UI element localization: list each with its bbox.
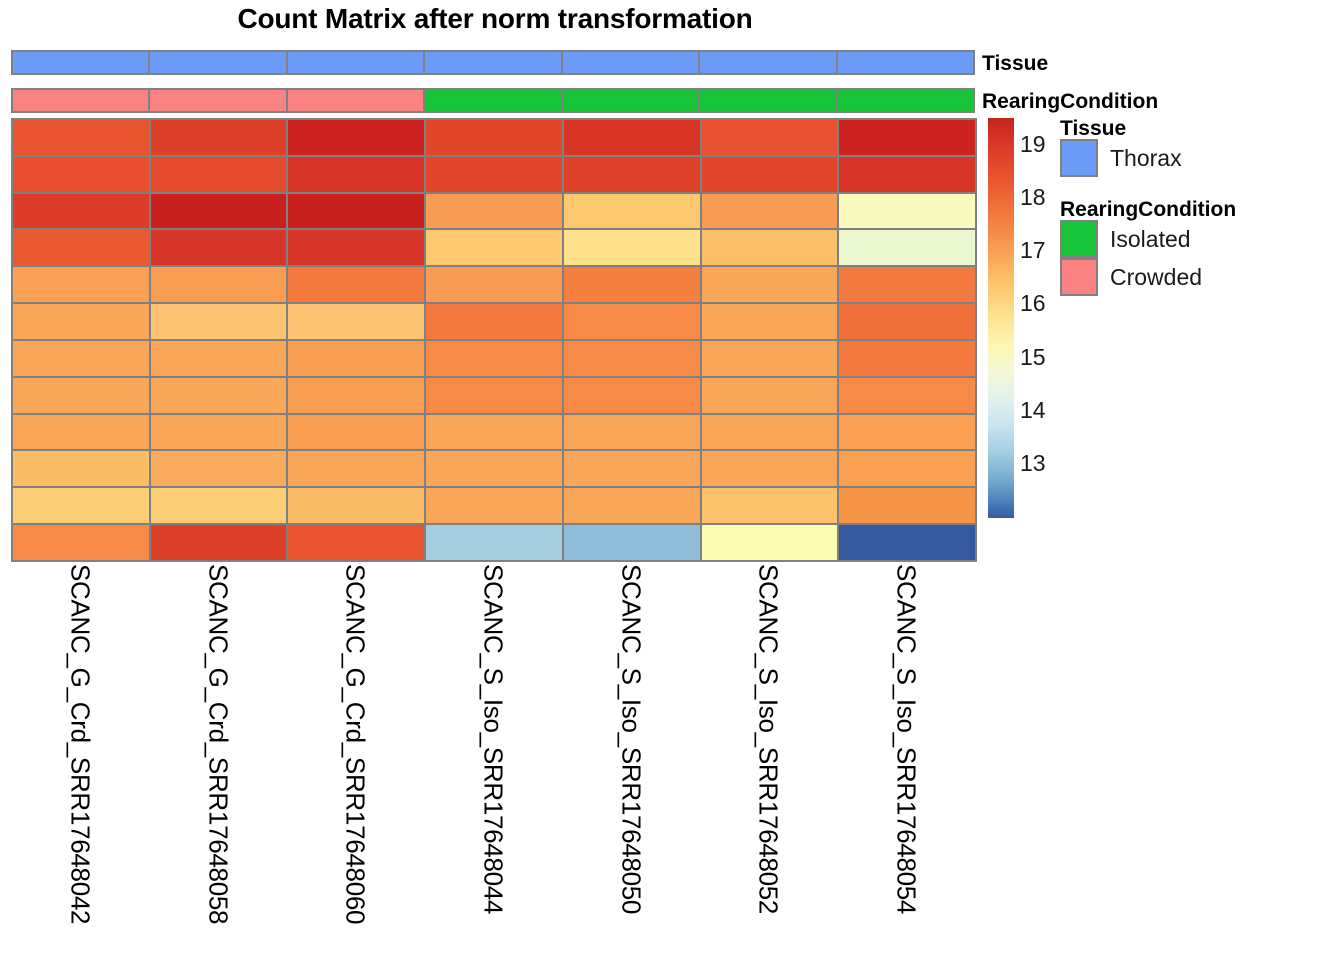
heatmap-cell [424,302,564,341]
colorbar-tick-label: 13 [1020,450,1046,477]
heatmap-cell [286,449,426,488]
heatmap-cell [837,339,977,378]
heatmap-cell [424,192,564,231]
heatmap-cell [11,486,151,525]
heatmap-cell [837,192,977,231]
page-title: Count Matrix after norm transformation [0,3,990,35]
heatmap-cell [837,155,977,194]
heatmap-cell [562,523,702,562]
column-label-slot: SCANC_S_Iso_SRR17648054 [837,562,975,958]
annotation-row-label-tissue: Tissue [982,52,1048,76]
colorbar-gradient [988,118,1014,518]
heatmap-cell [286,413,426,452]
heatmap-cell [837,413,977,452]
heatmap-cell [11,118,151,157]
heatmap-cell [562,376,702,415]
annotation-cell [11,88,150,113]
legend-entry[interactable]: Thorax [1060,139,1344,177]
column-label-slot: SCANC_S_Iso_SRR17648052 [700,562,838,958]
annotation-bar-rearingcondition [11,88,975,113]
heatmap-cell [424,265,564,304]
heatmap-cell [286,523,426,562]
heatmap-cell [286,376,426,415]
heatmap-cell [149,449,289,488]
heatmap-cell [149,339,289,378]
annotation-cell [286,50,425,75]
colorbar-tick-label: 15 [1020,344,1046,371]
annotation-row-label-rearingcondition: RearingCondition [982,90,1158,114]
annotation-cell [423,50,562,75]
annotation-cell [148,50,287,75]
heatmap-cell [700,192,840,231]
heatmap-cell [837,118,977,157]
heatmap-cell [11,449,151,488]
annotation-cell [423,88,562,113]
heatmap-cell [11,376,151,415]
annotation-cell [698,88,837,113]
heatmap-cell [11,228,151,267]
column-label-slot: SCANC_S_Iso_SRR17648044 [424,562,562,958]
heatmap-cell [700,228,840,267]
heatmap-cell [562,486,702,525]
heatmap-cell [424,118,564,157]
heatmap-cell [149,265,289,304]
heatmap-cell [562,449,702,488]
column-label: SCANC_S_Iso_SRR17648050 [615,564,646,914]
heatmap-cell [837,523,977,562]
legend-label: Crowded [1110,264,1202,291]
column-label-slot: SCANC_G_Crd_SRR17648060 [286,562,424,958]
annotation-bar-tissue [11,50,975,75]
heatmap-cell [837,228,977,267]
column-label: SCANC_G_Crd_SRR17648042 [64,564,95,924]
heatmap-cell [700,118,840,157]
heatmap-cell [11,339,151,378]
heatmap-cell [286,339,426,378]
heatmap-cell [562,192,702,231]
annotation-cell [148,88,287,113]
heatmap-cell [700,486,840,525]
column-label-slot: SCANC_G_Crd_SRR17648058 [149,562,287,958]
legend-label: Isolated [1110,226,1191,253]
heatmap-grid [11,118,975,560]
heatmap-cell [562,118,702,157]
heatmap-cell [424,228,564,267]
heatmap-cell [149,523,289,562]
heatmap-cell [11,523,151,562]
heatmap-cell [424,413,564,452]
heatmap-cell [562,228,702,267]
annotation-cell [836,50,975,75]
annotation-cell [836,88,975,113]
heatmap-cell [11,413,151,452]
column-label: SCANC_S_Iso_SRR17648052 [753,564,784,914]
heatmap-cell [11,192,151,231]
legend-label: Thorax [1110,145,1182,172]
heatmap-cell [837,449,977,488]
heatmap-cell [837,265,977,304]
heatmap-cell [424,376,564,415]
heatmap-cell [700,339,840,378]
heatmap-cell [424,523,564,562]
heatmap-cell [700,155,840,194]
heatmap-cell [286,228,426,267]
legend-title-tissue: Tissue [1060,118,1344,139]
annotation-cell [286,88,425,113]
heatmap-cell [700,265,840,304]
colorbar-tick-label: 16 [1020,290,1046,317]
heatmap-cell [286,155,426,194]
legend-entry[interactable]: Isolated [1060,220,1344,258]
heatmap-cell [562,413,702,452]
heatmap-cell [149,376,289,415]
heatmap-cell [700,302,840,341]
heatmap-cell [286,265,426,304]
heatmap-cell [11,302,151,341]
heatmap-cell [562,265,702,304]
legend-entry[interactable]: Crowded [1060,258,1344,296]
heatmap-cell [700,449,840,488]
heatmap-cell [562,302,702,341]
colorbar-tick-label: 19 [1020,131,1046,158]
heatmap-cell [11,265,151,304]
legend-swatch-icon [1060,258,1098,296]
heatmap-cell [562,155,702,194]
annotation-cell [561,88,700,113]
annotation-cell [698,50,837,75]
heatmap-cell [286,486,426,525]
heatmap-cell [700,376,840,415]
column-labels: SCANC_G_Crd_SRR17648042SCANC_G_Crd_SRR17… [11,562,975,958]
annotation-cell [561,50,700,75]
column-label: SCANC_G_Crd_SRR17648060 [340,564,371,924]
heatmap-cell [424,155,564,194]
heatmap-cell [286,302,426,341]
legend-swatch-icon [1060,139,1098,177]
legend-block-gap [1060,177,1344,199]
heatmap-cell [424,339,564,378]
heatmap-cell [149,192,289,231]
heatmap-cell [149,228,289,267]
colorbar [988,118,1014,518]
heatmap-cell [424,449,564,488]
heatmap-cell [286,118,426,157]
colorbar-tick-label: 14 [1020,397,1046,424]
heatmap-cell [149,155,289,194]
colorbar-tick-label: 17 [1020,237,1046,264]
heatmap-cell [11,155,151,194]
colorbar-tick-label: 18 [1020,184,1046,211]
legend-swatch-icon [1060,220,1098,258]
heatmap-cell [837,302,977,341]
column-label-slot: SCANC_G_Crd_SRR17648042 [11,562,149,958]
heatmap-cell [700,523,840,562]
heatmap-figure: Count Matrix after norm transformation T… [0,0,1344,960]
legend-panel: TissueThoraxRearingConditionIsolatedCrow… [1060,118,1344,296]
heatmap-cell [149,118,289,157]
heatmap-cell [700,413,840,452]
heatmap-cell [286,192,426,231]
column-label: SCANC_S_Iso_SRR17648044 [478,564,509,914]
heatmap-cell [149,486,289,525]
column-label-slot: SCANC_S_Iso_SRR17648050 [562,562,700,958]
column-label: SCANC_G_Crd_SRR17648058 [202,564,233,924]
heatmap-cell [149,302,289,341]
legend-title-rearingcondition: RearingCondition [1060,199,1344,220]
heatmap-cell [837,486,977,525]
heatmap-cell [149,413,289,452]
heatmap-cell [562,339,702,378]
column-label: SCANC_S_Iso_SRR17648054 [891,564,922,914]
heatmap-cell [837,376,977,415]
annotation-cell [11,50,150,75]
heatmap-cell [424,486,564,525]
